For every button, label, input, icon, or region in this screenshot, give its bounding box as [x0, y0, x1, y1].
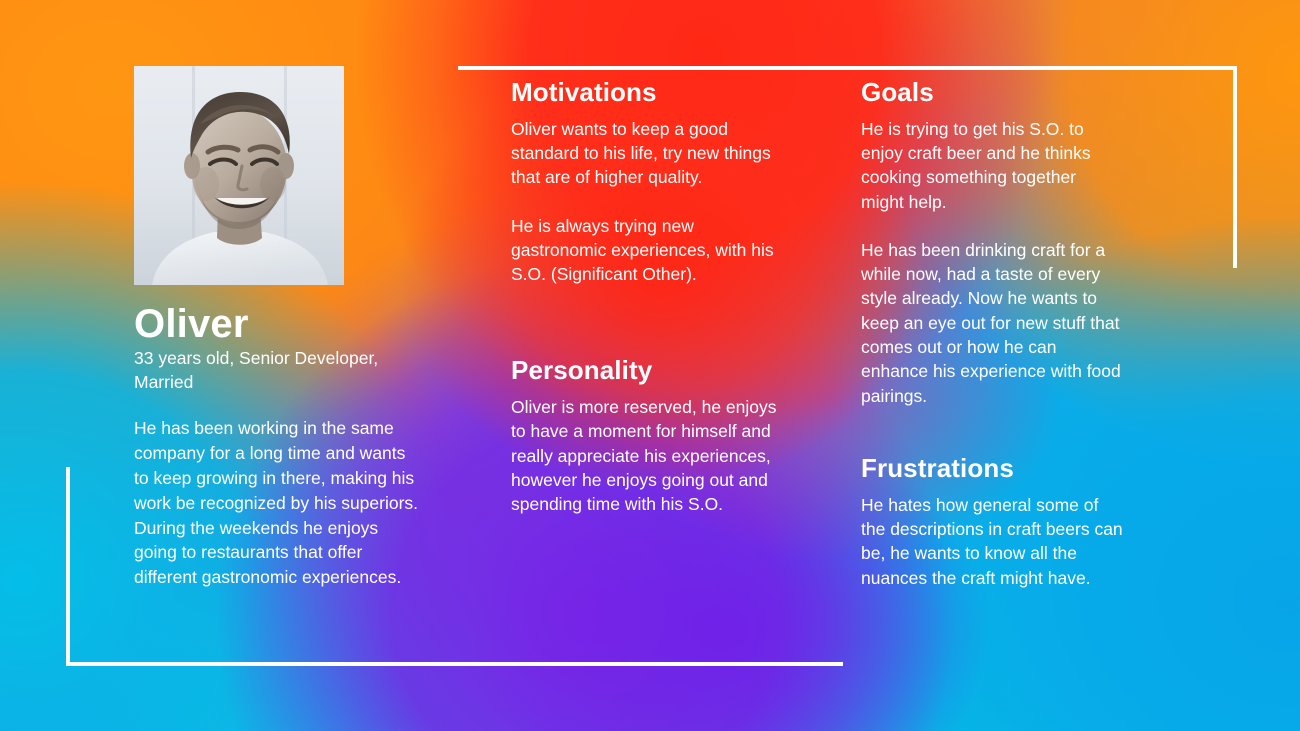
persona-column: Oliver 33 years old, Senior Developer, M… [134, 66, 424, 590]
section-motivations: Motivations Oliver wants to keep a good … [511, 78, 783, 286]
persona-meta: 33 years old, Senior Developer, Married [134, 347, 419, 394]
motivations-paragraph-2: He is always trying new gastronomic expe… [511, 214, 783, 287]
goals-paragraph-2: He has been drinking craft for a while n… [861, 238, 1123, 408]
section-frustrations: Frustrations He hates how general some o… [861, 454, 1123, 590]
motivations-personality-column: Motivations Oliver wants to keep a good … [511, 78, 783, 517]
motivations-title: Motivations [511, 78, 783, 107]
section-personality: Personality Oliver is more reserved, he … [511, 356, 783, 516]
persona-slide: Oliver 33 years old, Senior Developer, M… [0, 0, 1300, 731]
slide-content: Oliver 33 years old, Senior Developer, M… [0, 0, 1300, 731]
persona-bio: He has been working in the same company … [134, 416, 424, 590]
motivations-paragraph-1: Oliver wants to keep a good standard to … [511, 117, 783, 190]
section-goals: Goals He is trying to get his S.O. to en… [861, 78, 1123, 408]
persona-photo [134, 66, 344, 285]
portrait-photo-icon [134, 66, 344, 285]
frustrations-title: Frustrations [861, 454, 1123, 483]
goals-title: Goals [861, 78, 1123, 107]
goals-frustrations-column: Goals He is trying to get his S.O. to en… [861, 78, 1123, 590]
column-spacer [511, 314, 783, 356]
personality-title: Personality [511, 356, 783, 385]
persona-name: Oliver [134, 303, 424, 345]
frustrations-paragraph-1: He hates how general some of the descrip… [861, 493, 1123, 590]
column-spacer [861, 436, 1123, 454]
personality-paragraph-1: Oliver is more reserved, he enjoys to ha… [511, 395, 783, 517]
goals-paragraph-1: He is trying to get his S.O. to enjoy cr… [861, 117, 1123, 214]
